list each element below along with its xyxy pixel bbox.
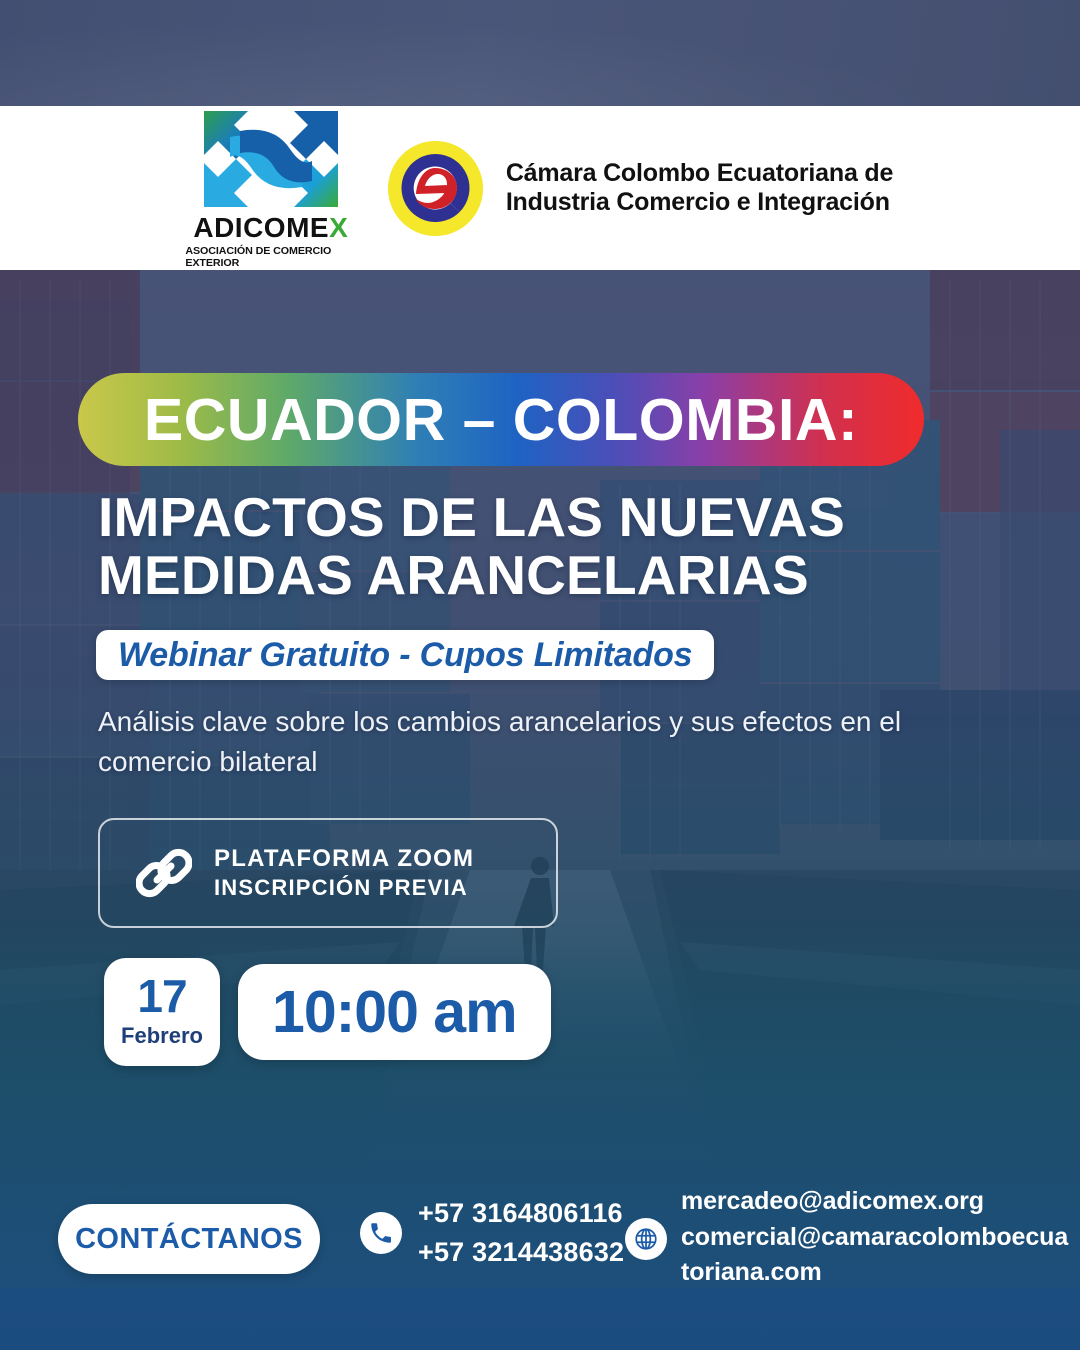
headline: IMPACTOS DE LAS NUEVAS MEDIDAS ARANCELAR…: [98, 488, 998, 605]
email-list: mercadeo@adicomex.org comercial@camaraco…: [681, 1184, 1068, 1291]
time-text: 10:00 am: [272, 983, 517, 1042]
camara-name-line1: Cámara Colombo Ecuatoriana de: [506, 159, 893, 188]
email-address-cont: toriana.com: [681, 1255, 1068, 1291]
contact-label: CONTÁCTANOS: [75, 1223, 303, 1256]
camara-e-emblem-icon: [383, 136, 488, 241]
camara-logo: Cámara Colombo Ecuatoriana de Industria …: [383, 136, 893, 241]
phone-list: +57 3164806116 +57 3214438632: [418, 1194, 624, 1272]
title-text: ECUADOR – COLOMBIA:: [144, 386, 858, 454]
adicomex-wordmark: ADICOMEX: [193, 214, 348, 242]
hero-content: ECUADOR – COLOMBIA: IMPACTOS DE LAS NUEV…: [0, 270, 1080, 1350]
email-address: mercadeo@adicomex.org: [681, 1184, 1068, 1220]
logo-band: ADICOMEX ASOCIACIÓN DE COMERCIO EXTERIOR…: [0, 106, 1080, 270]
email-address: comercial@camaracolomboecua: [681, 1220, 1068, 1256]
globe-icon: [633, 1226, 659, 1252]
globe-icon-badge: [625, 1218, 667, 1260]
description-text: Análisis clave sobre los cambios arancel…: [98, 702, 978, 782]
top-bar: [0, 0, 1080, 106]
adicomex-logo: ADICOMEX ASOCIACIÓN DE COMERCIO EXTERIOR: [187, 107, 355, 269]
adicomex-tagline: ASOCIACIÓN DE COMERCIO EXTERIOR: [185, 245, 356, 269]
date-day: 17: [137, 975, 186, 1019]
contact-pill[interactable]: CONTÁCTANOS: [58, 1204, 320, 1274]
phone-icon-badge: [360, 1212, 402, 1254]
phone-number: +57 3164806116: [418, 1194, 624, 1233]
webinar-flyer: ADICOMEX ASOCIACIÓN DE COMERCIO EXTERIOR…: [0, 0, 1080, 1350]
chain-link-icon: [136, 845, 192, 901]
schedule-row: 17 Febrero 10:00 am: [104, 958, 551, 1066]
title-pill: ECUADOR – COLOMBIA:: [78, 373, 924, 466]
phone-group[interactable]: +57 3164806116 +57 3214438632: [360, 1194, 624, 1272]
platform-text: PLATAFORMA ZOOM INSCRIPCIÓN PREVIA: [214, 844, 474, 903]
phone-icon: [368, 1220, 394, 1246]
platform-box[interactable]: PLATAFORMA ZOOM INSCRIPCIÓN PREVIA: [98, 818, 558, 928]
two-interlocking-arrows-icon: [196, 107, 346, 211]
headline-line2: MEDIDAS ARANCELARIAS: [98, 546, 998, 604]
phone-number: +57 3214438632: [418, 1233, 624, 1272]
email-group[interactable]: mercadeo@adicomex.org comercial@camaraco…: [625, 1184, 1068, 1291]
platform-line1: PLATAFORMA ZOOM: [214, 844, 474, 875]
time-card: 10:00 am: [238, 964, 551, 1060]
webinar-badge-text: Webinar Gratuito - Cupos Limitados: [118, 636, 692, 675]
date-month: Febrero: [121, 1023, 203, 1049]
webinar-badge: Webinar Gratuito - Cupos Limitados: [96, 630, 714, 680]
camara-name-line2: Industria Comercio e Integración: [506, 188, 893, 217]
footer-contact: CONTÁCTANOS +57 3164806116 +57 321443863…: [0, 1170, 1080, 1350]
platform-line2: INSCRIPCIÓN PREVIA: [214, 874, 474, 902]
headline-line1: IMPACTOS DE LAS NUEVAS: [98, 488, 998, 546]
camara-name: Cámara Colombo Ecuatoriana de Industria …: [506, 159, 893, 217]
date-card: 17 Febrero: [104, 958, 220, 1066]
